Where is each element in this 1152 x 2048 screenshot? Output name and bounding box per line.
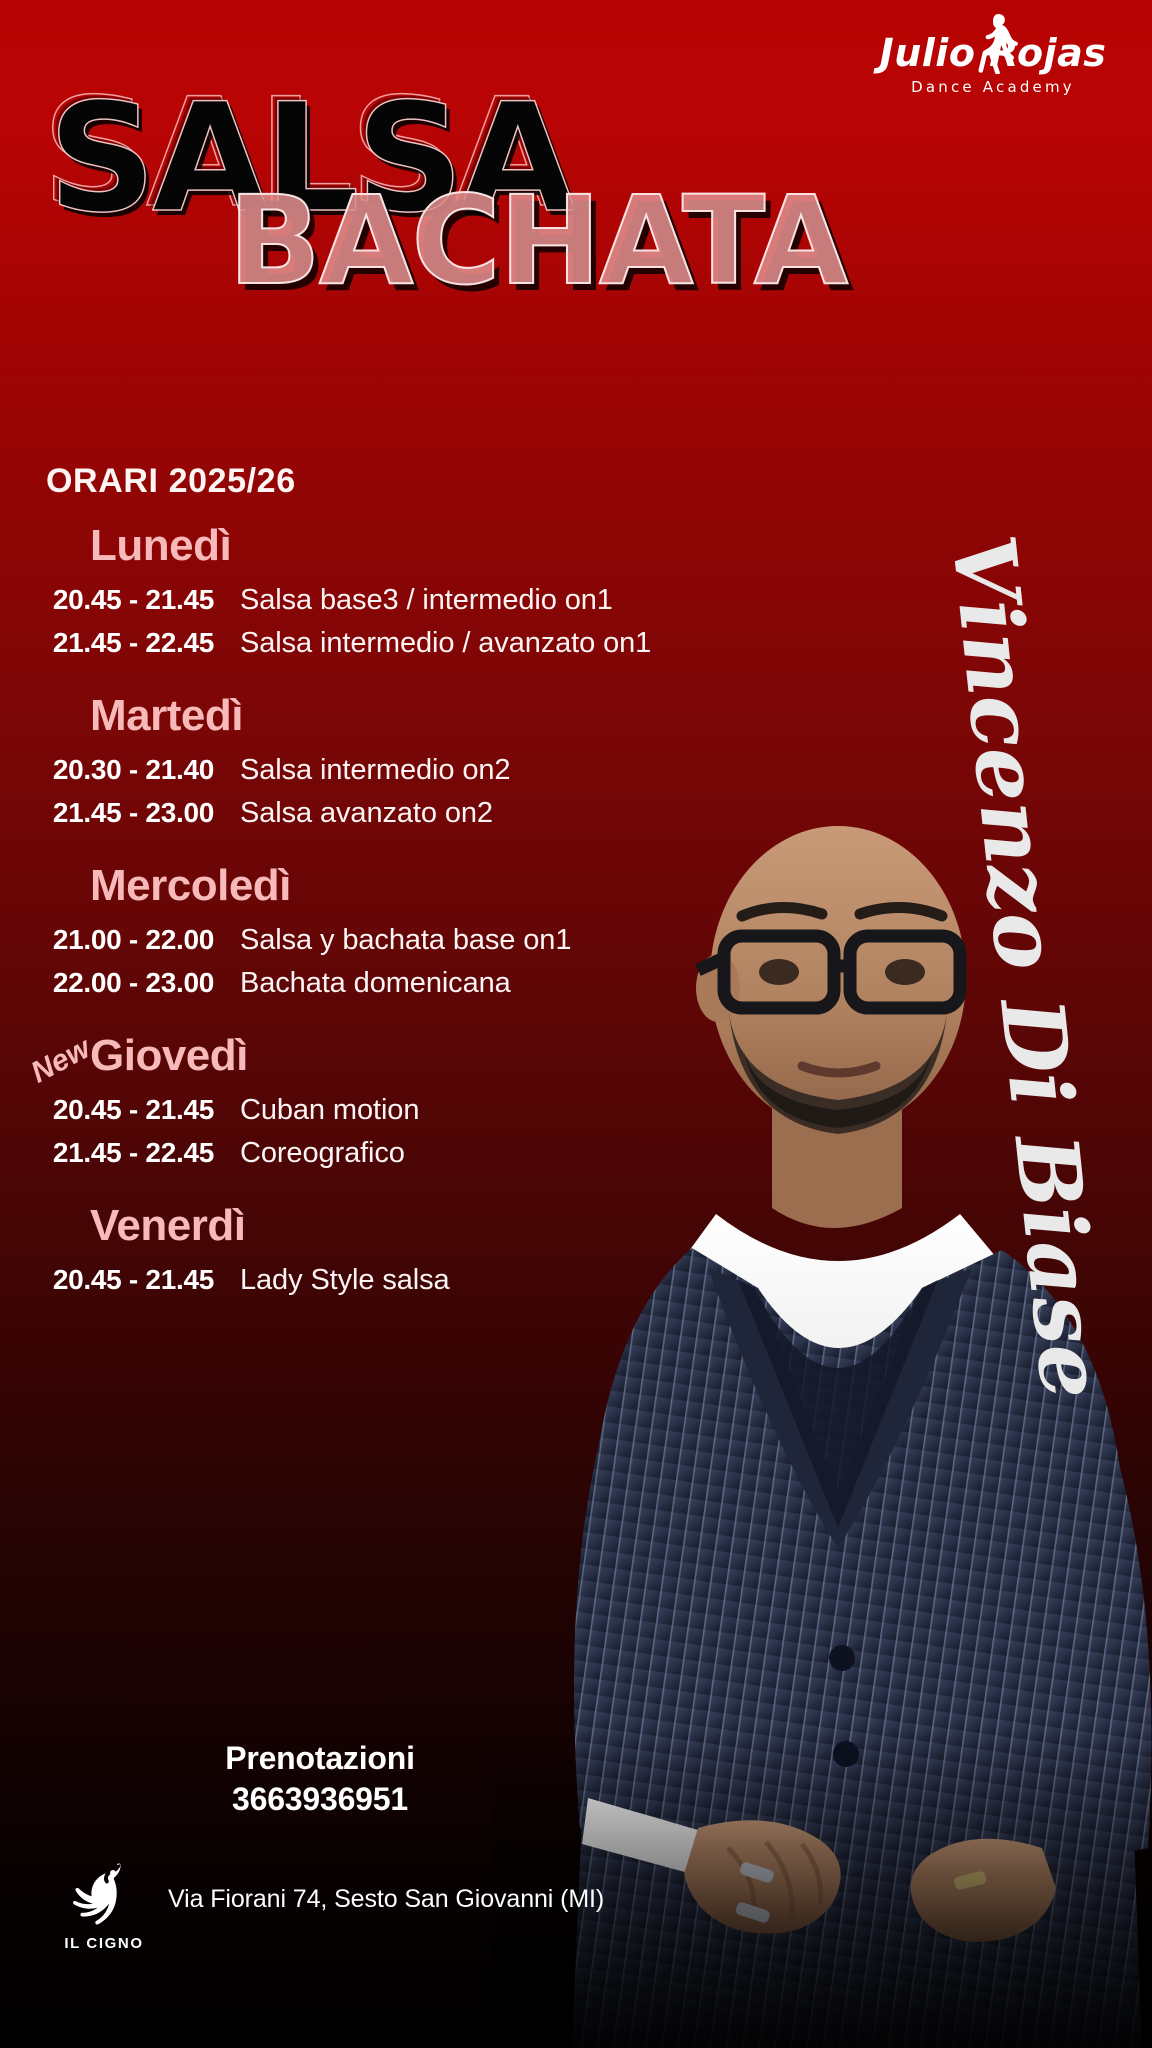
class-time: 21.45 - 23.00: [0, 797, 240, 829]
signature-text: Vincenzo Di Biase: [932, 530, 1123, 1403]
day-name: Lunedì: [90, 524, 740, 568]
class-rows: 20.30 - 21.40 Salsa intermedio on2 21.45…: [0, 754, 740, 830]
schedule-heading: ORARI 2025/26: [46, 462, 296, 501]
swan-icon: [58, 1860, 150, 1934]
booking-info: Prenotazioni 3663936951: [0, 1740, 640, 1818]
schedule-list: Lunedì 20.45 - 21.45 Salsa base3 / inter…: [0, 524, 740, 1307]
day-name: Giovedì: [90, 1034, 740, 1078]
class-time: 22.00 - 23.00: [0, 967, 240, 999]
day-name: Venerdì: [90, 1204, 740, 1248]
class-row: 21.45 - 22.45 Salsa intermedio / avanzat…: [0, 627, 740, 660]
poster-canvas: Julio Rojas Dance Academy SALSA SALSA BA…: [0, 0, 1152, 2048]
day-name: Mercoledì: [90, 864, 740, 908]
venue-address: Via Fiorani 74, Sesto San Giovanni (MI): [168, 1885, 604, 1914]
new-badge: New: [26, 1032, 96, 1091]
class-row: 22.00 - 23.00 Bachata domenicana: [0, 967, 740, 1000]
class-desc: Lady Style salsa: [240, 1264, 450, 1297]
poster-titles: SALSA SALSA BACHATA: [0, 84, 1152, 314]
venue-logo: IL CIGNO: [58, 1860, 150, 1952]
class-row: 21.00 - 22.00 Salsa y bachata base on1: [0, 924, 740, 957]
day-block-giovedi: Giovedì New 20.45 - 21.45 Cuban motion 2…: [0, 1034, 740, 1170]
class-desc: Salsa y bachata base on1: [240, 924, 571, 957]
class-desc: Cuban motion: [240, 1094, 419, 1127]
dancer-silhouette-icon: [974, 12, 1020, 74]
title-bachata: BACHATA: [228, 180, 846, 302]
class-desc: Salsa intermedio / avanzato on1: [240, 627, 651, 660]
class-desc: Bachata domenicana: [240, 967, 511, 1000]
booking-phone[interactable]: 3663936951: [0, 1781, 640, 1818]
day-block-lunedi: Lunedì 20.45 - 21.45 Salsa base3 / inter…: [0, 524, 740, 660]
class-rows: 20.45 - 21.45 Lady Style salsa: [0, 1264, 740, 1297]
class-desc: Coreografico: [240, 1137, 405, 1170]
class-rows: 20.45 - 21.45 Salsa base3 / intermedio o…: [0, 584, 740, 660]
class-desc: Salsa base3 / intermedio on1: [240, 584, 613, 617]
class-time: 21.45 - 22.45: [0, 1137, 240, 1169]
class-row: 20.45 - 21.45 Salsa base3 / intermedio o…: [0, 584, 740, 617]
class-rows: 21.00 - 22.00 Salsa y bachata base on1 2…: [0, 924, 740, 1000]
class-time: 20.45 - 21.45: [0, 1094, 240, 1126]
class-time: 21.00 - 22.00: [0, 924, 240, 956]
class-rows: New 20.45 - 21.45 Cuban motion 21.45 - 2…: [0, 1094, 740, 1170]
class-time: 20.45 - 21.45: [0, 584, 240, 616]
venue-logo-text: IL CIGNO: [58, 1935, 150, 1952]
day-block-mercoledi: Mercoledì 21.00 - 22.00 Salsa y bachata …: [0, 864, 740, 1000]
class-time: 20.30 - 21.40: [0, 754, 240, 786]
class-row: 21.45 - 22.45 Coreografico: [0, 1137, 740, 1170]
class-time: 21.45 - 22.45: [0, 627, 240, 659]
class-row: 20.30 - 21.40 Salsa intermedio on2: [0, 754, 740, 787]
class-time: 20.45 - 21.45: [0, 1264, 240, 1296]
venue-info: IL CIGNO Via Fiorani 74, Sesto San Giova…: [58, 1860, 604, 1952]
class-row: 20.45 - 21.45 Cuban motion: [0, 1094, 740, 1127]
class-row: 20.45 - 21.45 Lady Style salsa: [0, 1264, 740, 1297]
day-block-venerdi: Venerdì 20.45 - 21.45 Lady Style salsa: [0, 1204, 740, 1297]
day-name: Martedì: [90, 694, 740, 738]
class-row: 21.45 - 23.00 Salsa avanzato on2: [0, 797, 740, 830]
day-block-martedi: Martedì 20.30 - 21.40 Salsa intermedio o…: [0, 694, 740, 830]
class-desc: Salsa intermedio on2: [240, 754, 510, 787]
class-desc: Salsa avanzato on2: [240, 797, 493, 830]
booking-label: Prenotazioni: [0, 1740, 640, 1777]
